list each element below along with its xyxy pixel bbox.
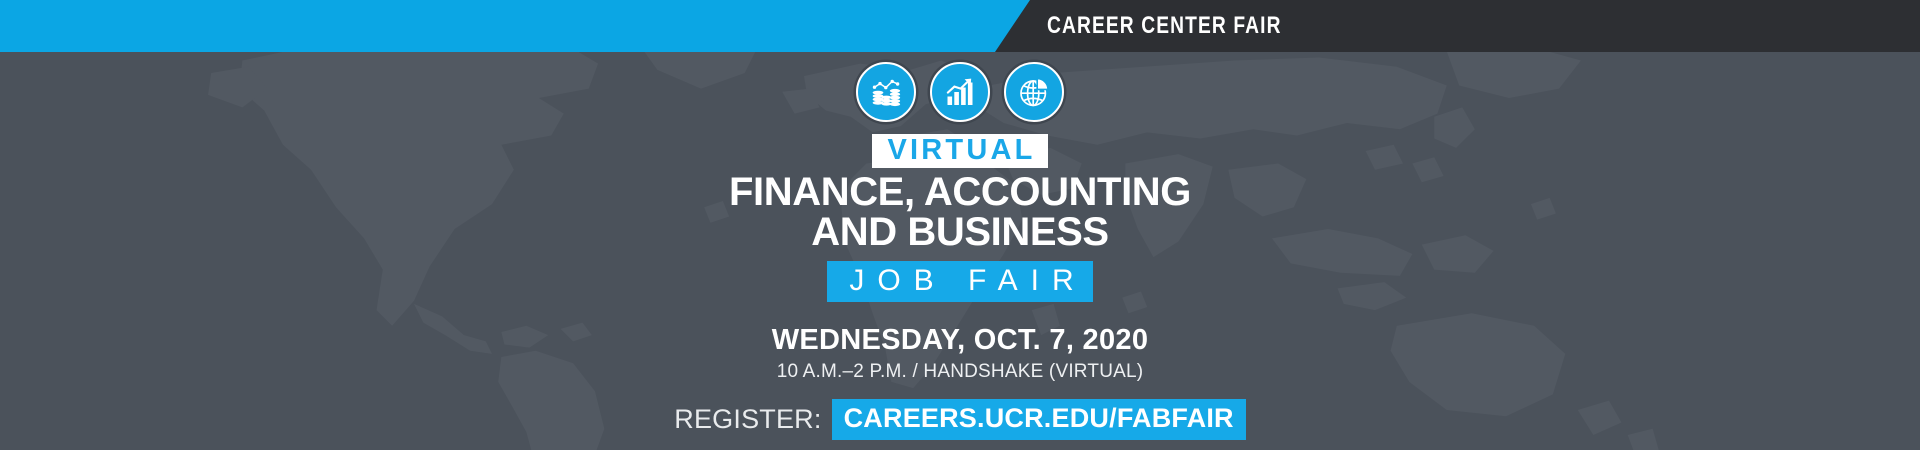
icons-row <box>856 62 1064 122</box>
register-url-link[interactable]: CAREERS.UCR.EDU/FABFAIR <box>832 399 1246 439</box>
register-label: REGISTER: <box>674 404 821 435</box>
banner-content: VIRTUAL FINANCE, ACCOUNTING AND BUSINESS… <box>0 52 1920 450</box>
virtual-badge: VIRTUAL <box>872 134 1047 168</box>
top-header-bar: CAREER CENTER FAIR <box>0 0 1920 52</box>
page-title: FINANCE, ACCOUNTING AND BUSINESS <box>729 173 1191 251</box>
headline-line-1: FINANCE, ACCOUNTING <box>729 170 1191 214</box>
event-time-location: 10 A.M.–2 P.M. / HANDSHAKE (VIRTUAL) <box>777 361 1144 383</box>
globe-pie-icon <box>1004 62 1064 122</box>
career-fair-banner: CAREER CENTER FAIR <box>0 0 1920 450</box>
headline-line-2: AND BUSINESS <box>729 213 1191 252</box>
header-blue-wedge <box>0 0 1030 52</box>
job-fair-bar: JOB FAIR <box>827 261 1092 303</box>
event-date: WEDNESDAY, OCT. 7, 2020 <box>772 324 1149 357</box>
header-title: CAREER CENTER FAIR <box>1047 0 1282 52</box>
bar-chart-arrow-icon <box>930 62 990 122</box>
register-row: REGISTER: CAREERS.UCR.EDU/FABFAIR <box>674 399 1245 439</box>
coins-trendline-icon <box>856 62 916 122</box>
